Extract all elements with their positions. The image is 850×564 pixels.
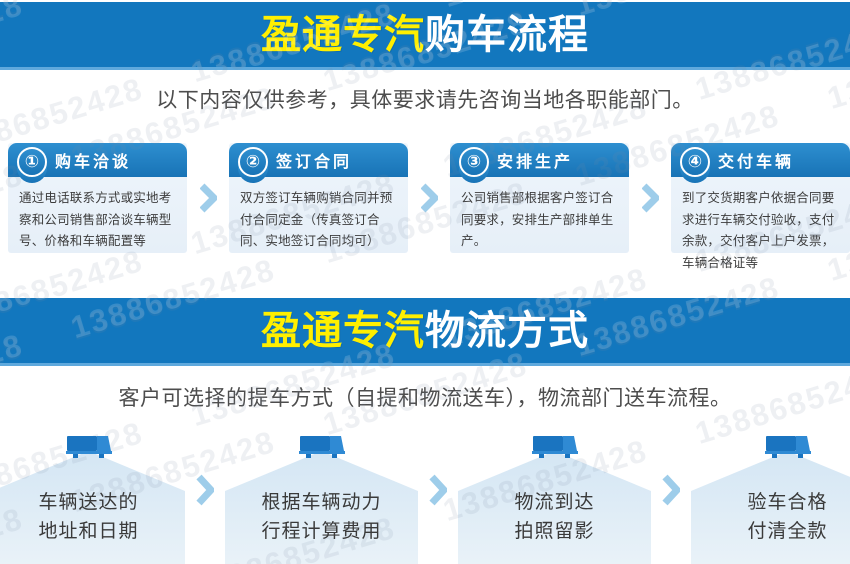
logistics-banner: 1388685242813886852428138868524281388685… [0, 298, 850, 366]
chevron-right-icon [662, 474, 680, 506]
step-arrow [187, 143, 229, 253]
chevron-right-icon [200, 183, 217, 213]
purchase-process-subtitle: 以下内容仅供参考，具体要求请先咨询当地各职能部门。 [0, 84, 850, 114]
step-number-badge: ④ [680, 147, 710, 177]
chevron-right-icon [429, 474, 447, 506]
logistics-step-line1: 根据车辆动力 [225, 488, 418, 517]
infographic-page: 1388685242813886852428138868524281388685… [0, 0, 850, 564]
spacer-left [0, 143, 8, 253]
logistics-subtitle: 客户可选择的提车方式（自提和物流送车），物流部门送车流程。 [0, 382, 850, 412]
step-arrow [408, 143, 450, 253]
step-title: 签订合同 [276, 148, 352, 172]
banner2-subject: 物流方式 [425, 308, 589, 354]
truck-icon [762, 432, 814, 462]
chevron-right-icon [642, 183, 659, 213]
logistics-step[interactable]: 根据车辆动力 行程计算费用 [225, 432, 418, 564]
brand-name: 盈通专汽 [261, 12, 425, 58]
chevron-right-icon [196, 474, 214, 506]
purchase-step-card[interactable]: ④ 交付车辆 到了交货期客户依据合同要求进行车辆交付验收，支付余款，交付客户上户… [671, 143, 850, 253]
logistics-step-line2: 拍照留影 [458, 517, 651, 546]
purchase-process-banner: 1388685242813886852428138868524281388685… [0, 2, 850, 70]
logistics-step-label: 物流到达 拍照留影 [458, 488, 651, 546]
purchase-step-card[interactable]: ① 购车洽谈 通过电话联系方式或实地考察和公司销售部洽谈车辆型号、价格和车辆配置… [8, 143, 187, 253]
logistics-step[interactable]: 车辆送达的 地址和日期 [0, 432, 185, 564]
step-number-badge: ③ [459, 147, 489, 177]
logistics-step-line1: 物流到达 [458, 488, 651, 517]
logistics-step-label: 车辆送达的 地址和日期 [0, 488, 185, 546]
chevron-right-icon [421, 183, 438, 213]
logistics-arrow [418, 432, 458, 564]
step-header: ① 购车洽谈 [8, 143, 187, 177]
truck-icon [296, 432, 348, 462]
step-arrow [629, 143, 671, 253]
logistics-step-line1: 验车合格 [691, 488, 850, 517]
step-header: ③ 安排生产 [450, 143, 629, 177]
logistics-step-label: 验车合格 付清全款 [691, 488, 850, 546]
step-body-text: 双方签订车辆购销合同并预付合同定金（传真签订合同、实地签订合同均可） [229, 177, 408, 252]
step-body-text: 通过电话联系方式或实地考察和公司销售部洽谈车辆型号、价格和车辆配置等 [8, 177, 187, 252]
step-number-badge: ② [238, 147, 268, 177]
logistics-step-line2: 付清全款 [691, 517, 850, 546]
step-title: 交付车辆 [718, 148, 794, 172]
step-header: ② 签订合同 [229, 143, 408, 177]
banner2-title: 盈通专汽物流方式 [261, 311, 589, 351]
logistics-step-line1: 车辆送达的 [0, 488, 185, 517]
logistics-arrow [185, 432, 225, 564]
purchase-step-card[interactable]: ② 签订合同 双方签订车辆购销合同并预付合同定金（传真签订合同、实地签订合同均可… [229, 143, 408, 253]
logistics-steps-row: 车辆送达的 地址和日期 根据车辆动力 行程计算费用 [0, 432, 850, 564]
logistics-step[interactable]: 物流到达 拍照留影 [458, 432, 651, 564]
logistics-step[interactable]: 验车合格 付清全款 [691, 432, 850, 564]
purchase-steps-row: ① 购车洽谈 通过电话联系方式或实地考察和公司销售部洽谈车辆型号、价格和车辆配置… [0, 143, 850, 253]
purchase-step-card[interactable]: ③ 安排生产 公司销售部根据客户签订合同要求，安排生产部排单生产。 [450, 143, 629, 253]
logistics-step-label: 根据车辆动力 行程计算费用 [225, 488, 418, 546]
brand-name: 盈通专汽 [261, 308, 425, 354]
truck-icon [529, 432, 581, 462]
step-title: 购车洽谈 [55, 148, 131, 172]
step-title: 安排生产 [497, 148, 573, 172]
banner1-title: 盈通专汽购车流程 [261, 15, 589, 55]
step-body-text: 公司销售部根据客户签订合同要求，安排生产部排单生产。 [450, 177, 629, 252]
step-body-text: 到了交货期客户依据合同要求进行车辆交付验收，支付余款，交付客户上户发票，车辆合格… [671, 177, 850, 273]
truck-icon [63, 432, 115, 462]
step-number-badge: ① [17, 147, 47, 177]
step-header: ④ 交付车辆 [671, 143, 850, 177]
banner1-subject: 购车流程 [425, 12, 589, 58]
logistics-arrow [651, 432, 691, 564]
logistics-step-line2: 地址和日期 [0, 517, 185, 546]
logistics-step-line2: 行程计算费用 [225, 517, 418, 546]
